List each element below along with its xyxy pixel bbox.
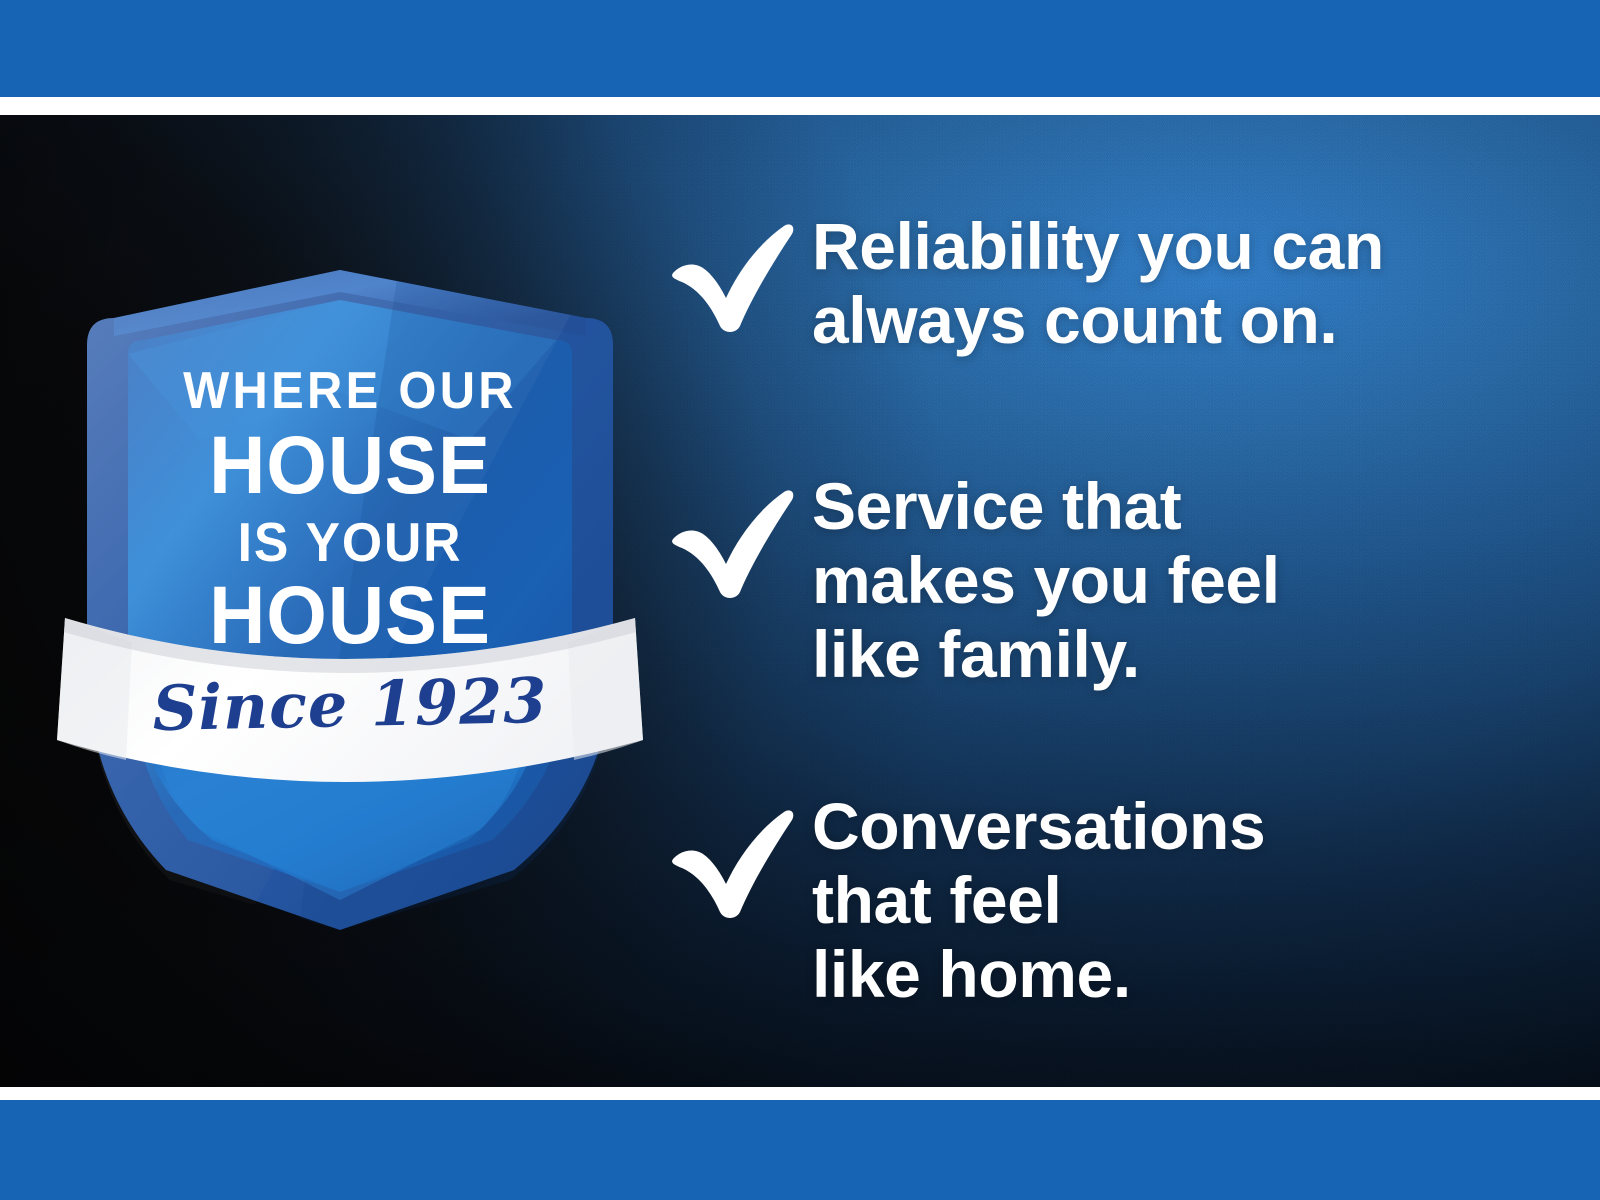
list-item-text: Service that makes you feel like family. bbox=[812, 470, 1280, 692]
list-item: Service that makes you feel like family. bbox=[660, 470, 1280, 692]
badge-emblem: WHERE OUR HOUSE IS YOUR HOUSE Since 1923 bbox=[40, 140, 660, 960]
check-icon bbox=[660, 800, 800, 920]
top-brand-bar bbox=[0, 0, 1600, 97]
badge-line-3: IS YOUR bbox=[59, 515, 642, 570]
bottom-white-divider bbox=[0, 1087, 1600, 1100]
check-icon bbox=[660, 480, 800, 600]
top-white-divider bbox=[0, 97, 1600, 115]
benefits-list: Reliability you can always count on. Ser… bbox=[660, 115, 1560, 1087]
badge-line-1: WHERE OUR bbox=[59, 365, 642, 417]
check-icon bbox=[660, 214, 800, 334]
badge-line-4: HOUSE bbox=[56, 575, 645, 657]
bottom-brand-bar bbox=[0, 1100, 1600, 1200]
list-item-text: Conversations that feel like home. bbox=[812, 790, 1265, 1012]
badge-line-2: HOUSE bbox=[56, 425, 645, 507]
badge-since-text: Since 1923 bbox=[39, 662, 660, 748]
list-item: Reliability you can always count on. bbox=[660, 210, 1384, 358]
list-item-text: Reliability you can always count on. bbox=[812, 210, 1384, 358]
list-item: Conversations that feel like home. bbox=[660, 790, 1265, 1012]
promo-graphic: WHERE OUR HOUSE IS YOUR HOUSE Since 1923… bbox=[0, 0, 1600, 1200]
